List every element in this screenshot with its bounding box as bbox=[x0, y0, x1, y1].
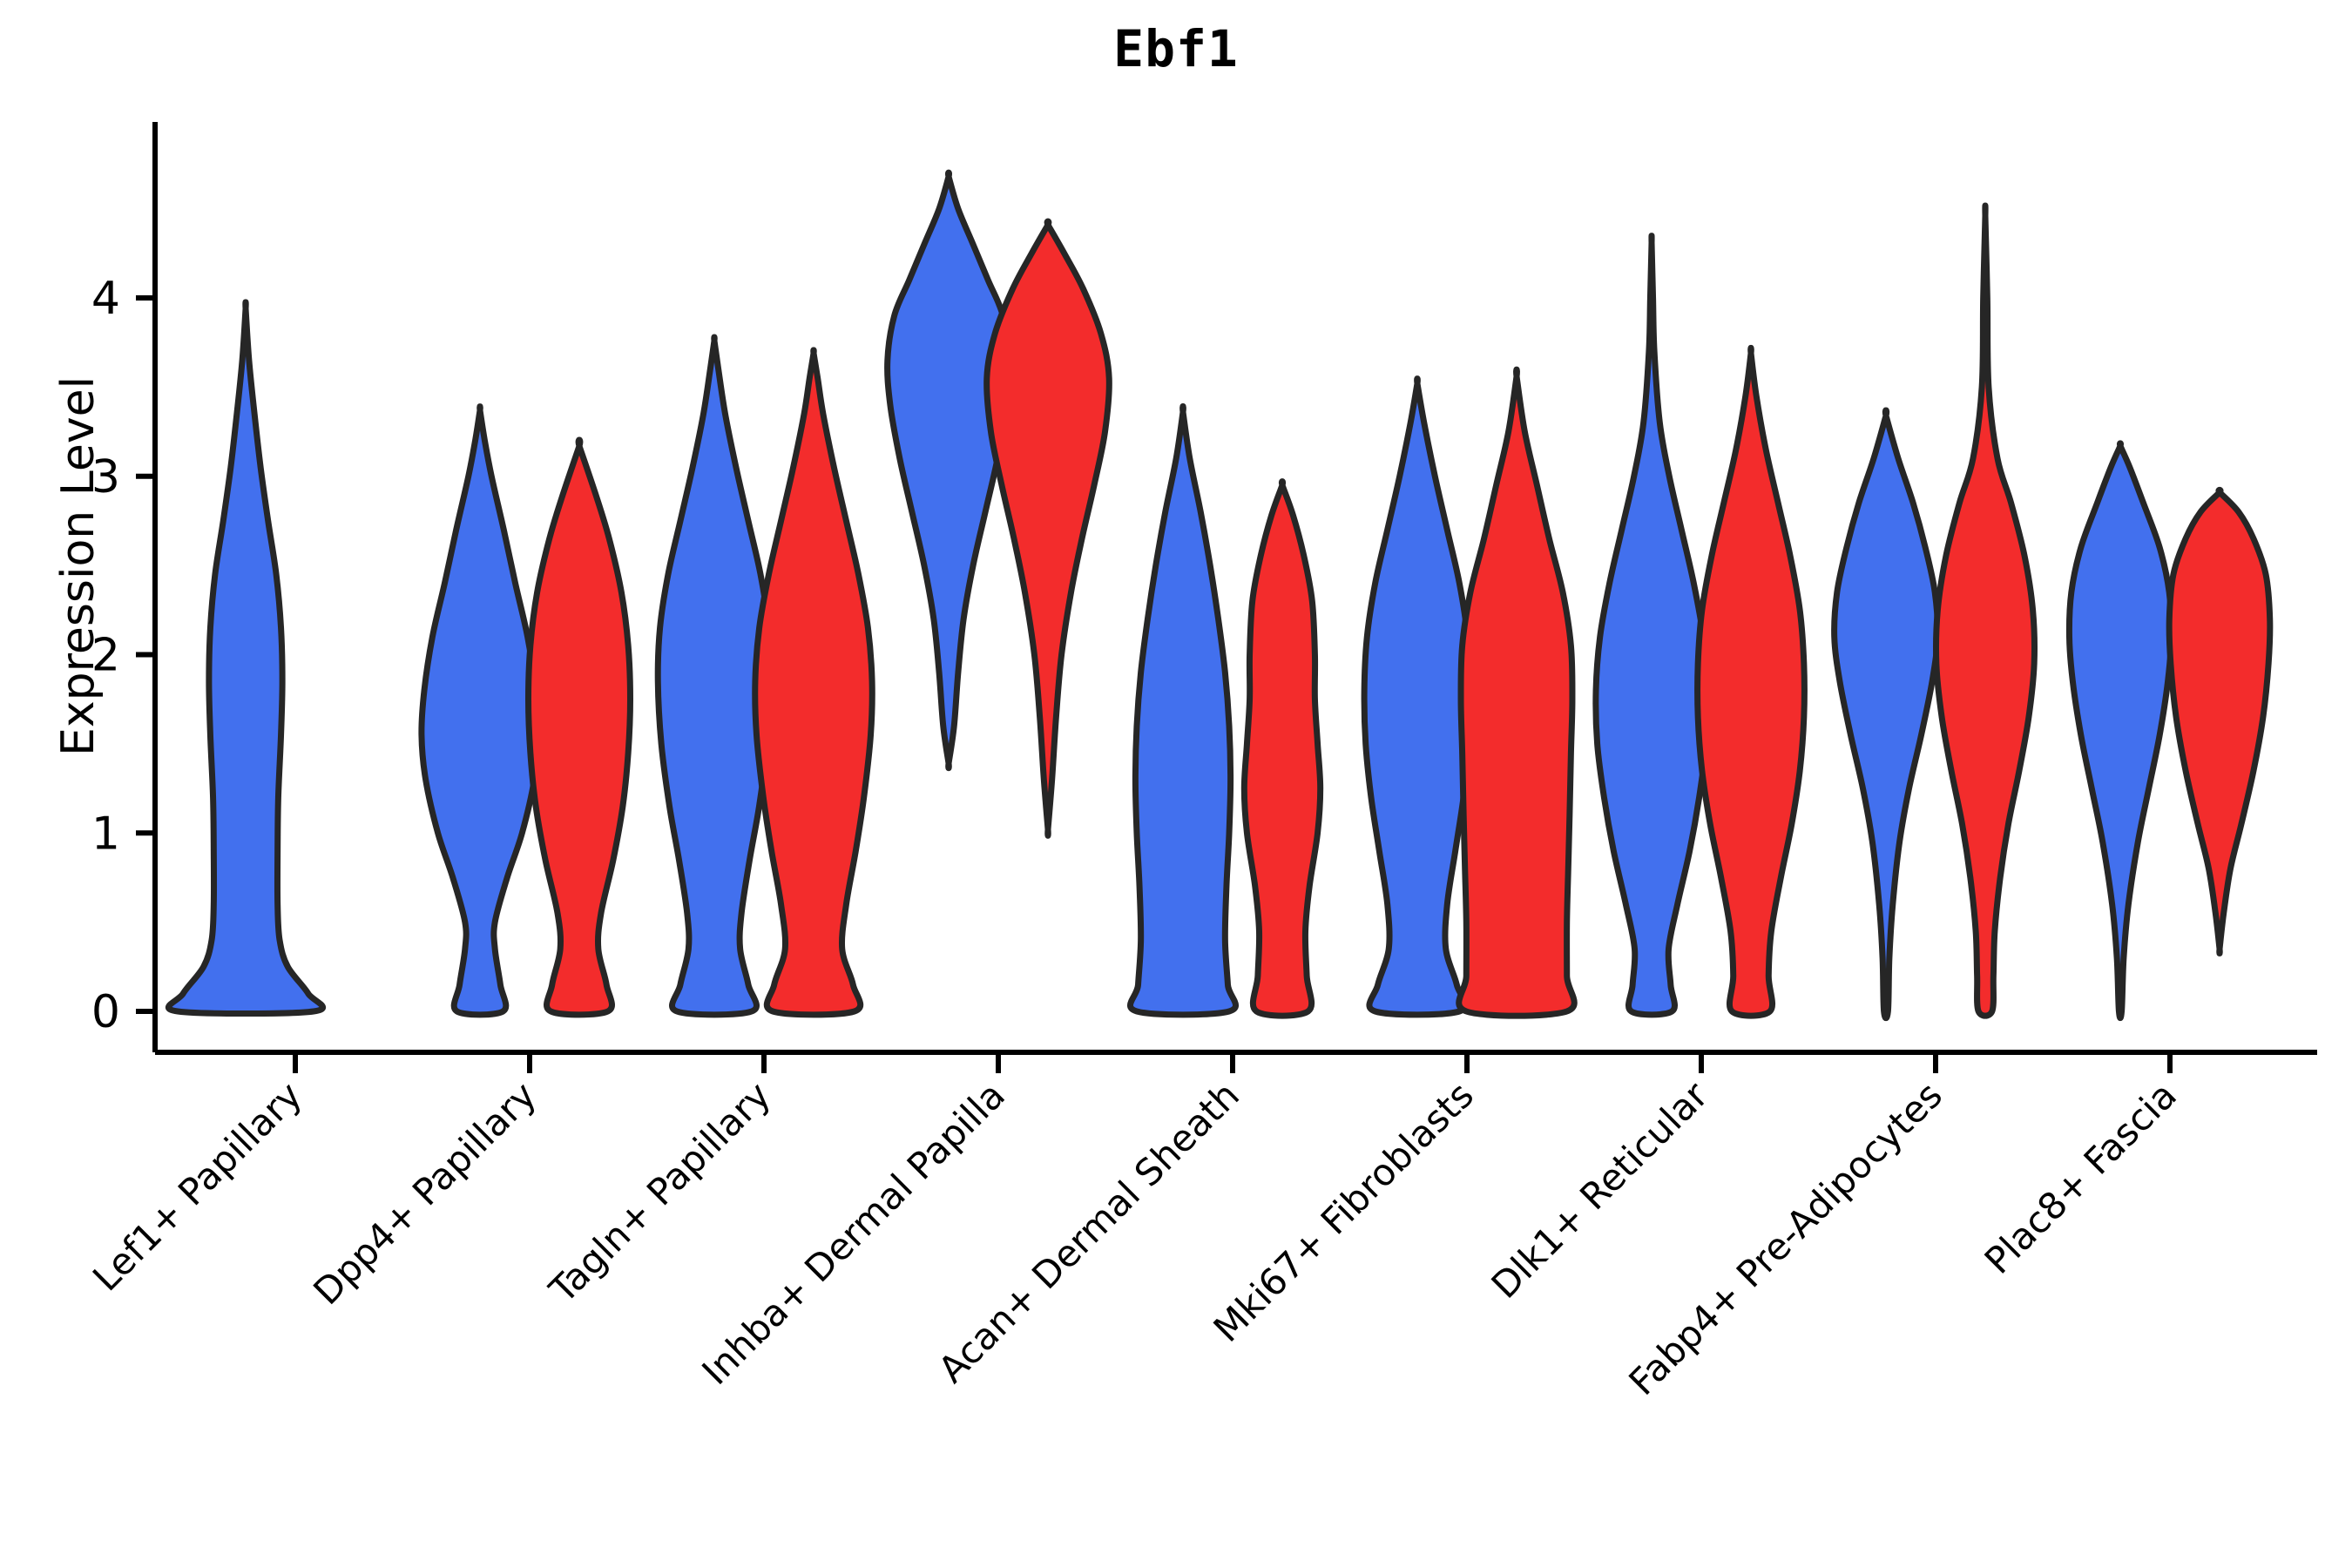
x-tick-label-1: Dpp4+ Papillary bbox=[305, 1073, 544, 1313]
violin-series_2-5 bbox=[1459, 369, 1575, 1016]
violin-series_1-5 bbox=[1364, 379, 1470, 1015]
y-tick-label-2: 2 bbox=[91, 630, 120, 682]
x-tick-labels: Lef1+ PapillaryDpp4+ PapillaryTagln+ Pap… bbox=[84, 1073, 2185, 1403]
violin-series_2-3 bbox=[987, 221, 1110, 835]
y-tick-label-3: 3 bbox=[91, 451, 120, 504]
violins-layer bbox=[168, 172, 2269, 1018]
violin-series_2-2 bbox=[755, 350, 873, 1015]
violin-series_1-8 bbox=[2069, 443, 2171, 1018]
violin-series_2-4 bbox=[1244, 482, 1320, 1016]
y-tick-label-1: 1 bbox=[91, 808, 120, 860]
violin-series_1-6 bbox=[1596, 236, 1707, 1015]
x-tick-label-0: Lef1+ Papillary bbox=[84, 1073, 310, 1299]
violin-series_2-7 bbox=[1936, 206, 2034, 1016]
violin-series_1-1 bbox=[422, 407, 538, 1015]
y-tick-label-4: 4 bbox=[91, 273, 120, 325]
violin-series_1-0 bbox=[168, 302, 322, 1014]
violin-series_2-6 bbox=[1698, 348, 1805, 1016]
plot-canvas: 01234 Lef1+ PapillaryDpp4+ PapillaryTagl… bbox=[0, 0, 2352, 1568]
x-tick-label-5: Mki67+ Fibroblasts bbox=[1206, 1073, 1482, 1349]
y-tick-labels: 01234 bbox=[91, 273, 120, 1038]
x-tick-label-8: Plac8+ Fascia bbox=[1977, 1073, 2185, 1281]
violin-series_1-4 bbox=[1130, 406, 1235, 1014]
violin-series_1-7 bbox=[1835, 410, 1938, 1018]
x-tick-label-2: Tagln+ Papillary bbox=[541, 1073, 779, 1311]
violin-series_2-1 bbox=[529, 440, 631, 1015]
x-tick-label-6: Dlk1+ Reticular bbox=[1484, 1073, 1717, 1307]
violin-series_2-8 bbox=[2169, 490, 2270, 953]
violin-series_1-3 bbox=[888, 172, 1010, 768]
y-tick-label-0: 0 bbox=[91, 986, 120, 1038]
violin-plot-figure: Ebf1 Expression Level 01234 Lef1+ Papill… bbox=[0, 0, 2352, 1568]
